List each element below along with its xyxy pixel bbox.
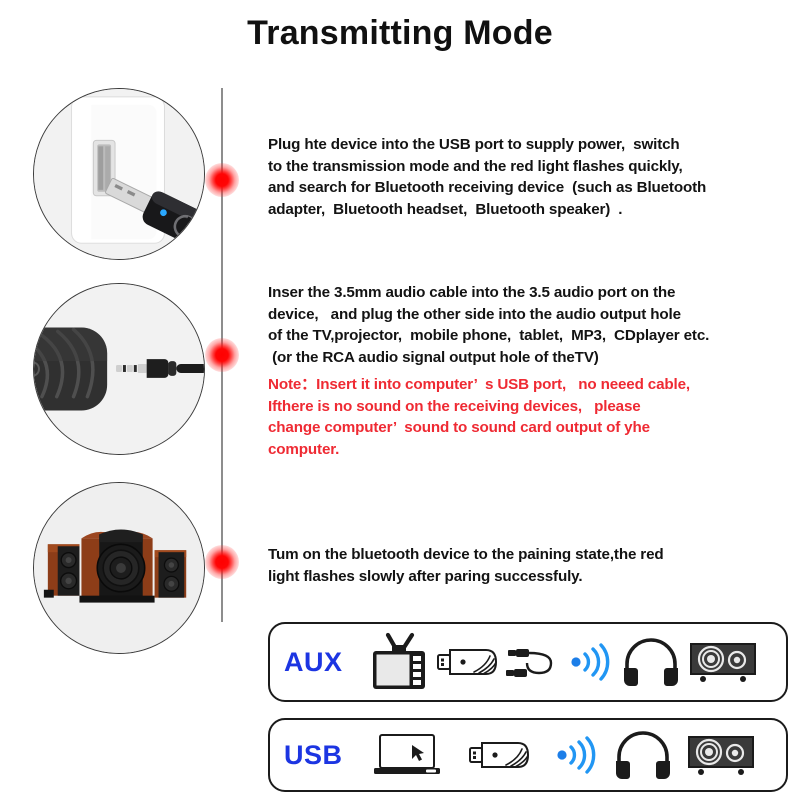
step-2-line-2: device, and plug the other side into the… [268,304,709,326]
step-3-line-2: light flashes slowly after paring succes… [268,566,664,588]
step-2-photo-audio-cable-into-device [33,283,205,455]
step-1-photo-usb-adapter-with-bluetooth-dongle [33,88,205,260]
note-line-3: change computer’ sound to sound card out… [268,417,690,439]
step-2-line-1: Inser the 3.5mm audio cable into the 3.5… [268,282,709,304]
step-2-note-text: Note：Insert it into computer’ s USB port… [268,374,690,460]
step-2-text: Inser the 3.5mm audio cable into the 3.5… [268,282,709,368]
bluetooth-waves-icon [554,732,600,778]
step-1-line-1: Plug hte device into the USB port to sup… [268,134,706,156]
note-line-1: Note：Insert it into computer’ s USB port… [268,374,690,396]
note-line-2: Ifthere is no sound on the receiving dev… [268,396,690,418]
usb-panel-label: USB [284,740,362,771]
timeline-dot-step-3 [205,545,239,579]
aux-cable-loop-icon [504,633,562,691]
page-title: Transmitting Mode [0,14,800,53]
timeline-dot-step-1 [205,163,239,197]
step-3-line-1: Tum on the bluetooth device to the paini… [268,544,664,566]
step-3-text: Tum on the bluetooth device to the paini… [268,544,664,587]
headphones-icon [620,633,682,691]
speaker-box-icon [686,729,756,781]
headphones-icon [612,726,674,784]
speaker-box-icon [688,636,758,688]
step-1-line-4: adapter, Bluetooth headset, Bluetooth sp… [268,199,706,221]
usb-dongle-icon [436,642,498,682]
aux-panel-label: AUX [284,647,362,678]
step-2-line-3: of the TV,projector, mobile phone, table… [268,325,709,347]
usb-connection-diagram-panel: USB [268,718,788,792]
step-3-photo-speaker-system [33,482,205,654]
step-1-line-2: to the transmission mode and the red lig… [268,156,706,178]
timeline-dot-step-2 [205,338,239,372]
aux-connection-diagram-panel: AUX [268,622,788,702]
bluetooth-waves-icon [568,639,614,685]
step-1-text: Plug hte device into the USB port to sup… [268,134,706,220]
usb-dongle-icon [468,735,530,775]
laptop-icon [370,729,444,781]
step-2-line-4: (or the RCA audio signal output hole of … [268,347,709,369]
note-line-4: computer. [268,439,690,461]
crt-tv-icon [368,631,430,693]
transmitting-mode-instruction-page: Transmitting Mode [0,0,800,800]
step-1-line-3: and search for Bluetooth receiving devic… [268,177,706,199]
